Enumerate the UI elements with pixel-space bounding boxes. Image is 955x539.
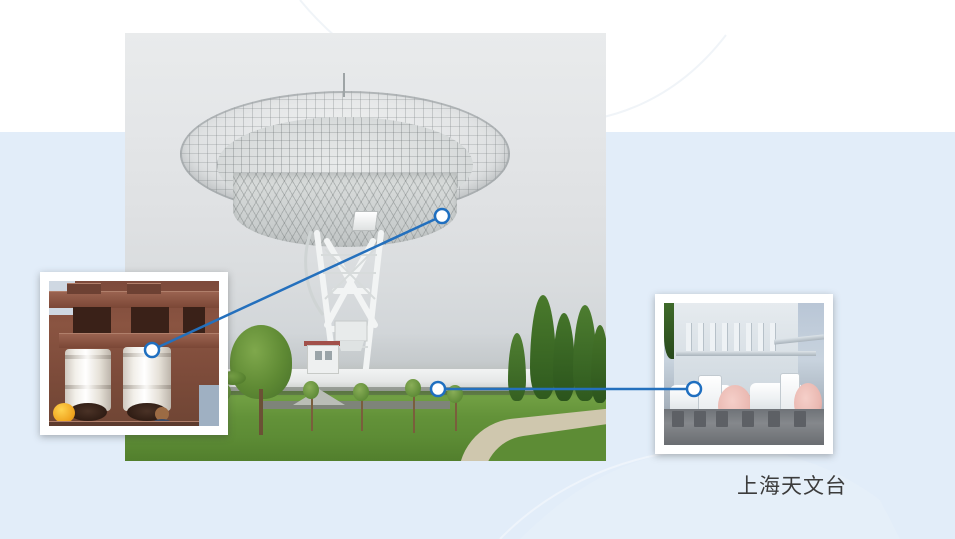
- frame-cavity: [183, 307, 205, 333]
- base-bracket: [694, 411, 706, 427]
- frame-cavity: [73, 307, 111, 333]
- base-bracket: [742, 411, 754, 427]
- cylinder-band: [123, 385, 171, 389]
- base-bracket: [716, 411, 728, 427]
- structure-fin: [734, 323, 740, 353]
- background-gap: [199, 385, 219, 426]
- sapling-canopy: [447, 385, 463, 403]
- service-road: [260, 401, 450, 409]
- access-ramp: [293, 389, 345, 405]
- structure-fin: [722, 323, 728, 353]
- structure-fin: [698, 323, 704, 353]
- bolt-block: [127, 283, 161, 294]
- structure-fin: [770, 323, 776, 353]
- lower-frame: [49, 421, 219, 426]
- inset-left-image: [49, 281, 219, 426]
- handrail: [676, 351, 816, 356]
- cylinder-band: [65, 385, 111, 389]
- base-bracket: [768, 411, 780, 427]
- frame-cavity: [131, 307, 169, 333]
- sapling-canopy: [353, 383, 369, 401]
- telescope-feed-mast: [343, 73, 345, 97]
- sapling-canopy: [405, 379, 421, 397]
- structure-fin: [710, 323, 716, 353]
- control-hut-window-left: [315, 351, 322, 360]
- foreground-tree-trunk: [259, 389, 263, 435]
- bolt-block: [67, 283, 101, 294]
- structure-fin: [686, 323, 692, 353]
- control-hut-window-right: [325, 351, 332, 360]
- control-hut: [307, 345, 339, 374]
- steel-beam: [59, 333, 219, 348]
- foreground-tree: [230, 325, 292, 399]
- inset-left-gearbox-photo: [40, 272, 228, 435]
- cypress-tree: [591, 325, 606, 403]
- presentation-slide: 上海天文台: [0, 0, 955, 539]
- structure-fin: [746, 323, 752, 353]
- base-bracket: [794, 411, 806, 427]
- structure-fin: [758, 323, 764, 353]
- inset-right-image: [664, 303, 824, 445]
- base-bracket: [672, 411, 684, 427]
- sapling-canopy: [303, 381, 319, 399]
- telescope-support-tower: [275, 229, 425, 379]
- safety-helmet: [53, 403, 75, 423]
- cylinder-band: [123, 353, 171, 357]
- observatory-caption: 上海天文台: [737, 470, 847, 500]
- cylinder-band: [65, 355, 111, 359]
- telescope-elevation-housing: [352, 211, 379, 231]
- inset-right-drive-photo: [655, 294, 833, 454]
